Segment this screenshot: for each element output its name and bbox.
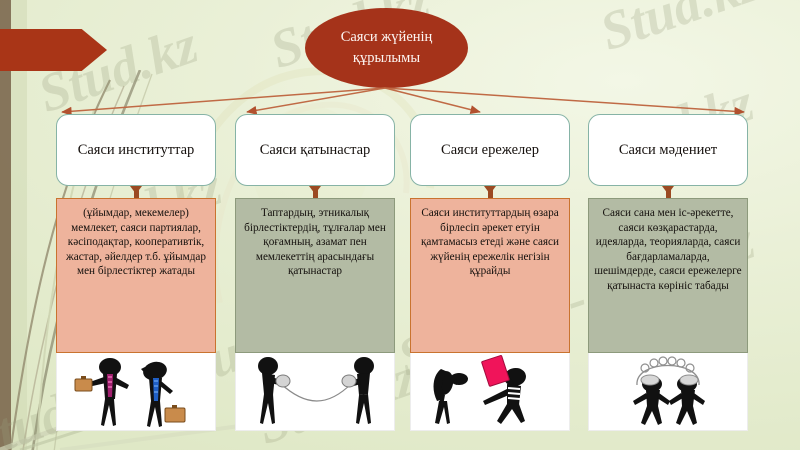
header-label: Саяси институттар <box>78 140 195 160</box>
slide-canvas: Stud.kz Stud.kz Stud.kz Stud.kz Stud.kz … <box>0 0 800 450</box>
title-ellipse: Саяси жүйенің құрылымы <box>305 8 468 88</box>
illustration-tin-can-phone <box>235 353 395 431</box>
body-box: Саяси институттардың өзара бірлесіп әрек… <box>410 198 570 353</box>
page-title: Саяси жүйенің құрылымы <box>314 27 459 68</box>
header-label: Саяси қатынастар <box>260 140 371 160</box>
column-politic-rules: Саяси ережелер Саяси институттардың өзар… <box>410 114 570 431</box>
illustration-headdress-figures <box>588 353 748 431</box>
column-politic-institutions: Саяси институттар (ұйымдар, мекемелер) м… <box>56 114 216 431</box>
connector-stem <box>666 186 671 198</box>
watermark: Stud.kz <box>592 0 767 63</box>
connector-stem <box>488 186 493 198</box>
column-politic-relations: Саяси қатынастар Таптардың, этникалық бі… <box>235 114 395 431</box>
header-box[interactable]: Саяси мәдениет <box>588 114 748 186</box>
body-text: Саяси сана мен іс-әрекетте, саяси көзқар… <box>594 206 742 293</box>
header-box[interactable]: Саяси қатынастар <box>235 114 395 186</box>
body-text: (ұйымдар, мекемелер) мемлекет, саяси пар… <box>62 206 210 279</box>
illustration-businessmen <box>56 353 216 431</box>
body-box: (ұйымдар, мекемелер) мемлекет, саяси пар… <box>56 198 216 353</box>
header-box[interactable]: Саяси институттар <box>56 114 216 186</box>
left-banner-arrow <box>0 29 107 71</box>
header-label: Саяси мәдениет <box>619 140 717 160</box>
body-box: Саяси сана мен іс-әрекетте, саяси көзқар… <box>588 198 748 353</box>
connector-stem <box>313 186 318 198</box>
connector-stem <box>134 186 139 198</box>
header-label: Саяси ережелер <box>441 140 539 160</box>
body-text: Таптардың, этникалық бірлестіктердің, тұ… <box>241 206 389 279</box>
header-box[interactable]: Саяси ережелер <box>410 114 570 186</box>
illustration-referee-red-card <box>410 353 570 431</box>
column-politic-culture: Саяси мәдениет Саяси сана мен іс-әрекетт… <box>588 114 748 431</box>
body-text: Саяси институттардың өзара бірлесіп әрек… <box>416 206 564 279</box>
body-box: Таптардың, этникалық бірлестіктердің, тұ… <box>235 198 395 353</box>
